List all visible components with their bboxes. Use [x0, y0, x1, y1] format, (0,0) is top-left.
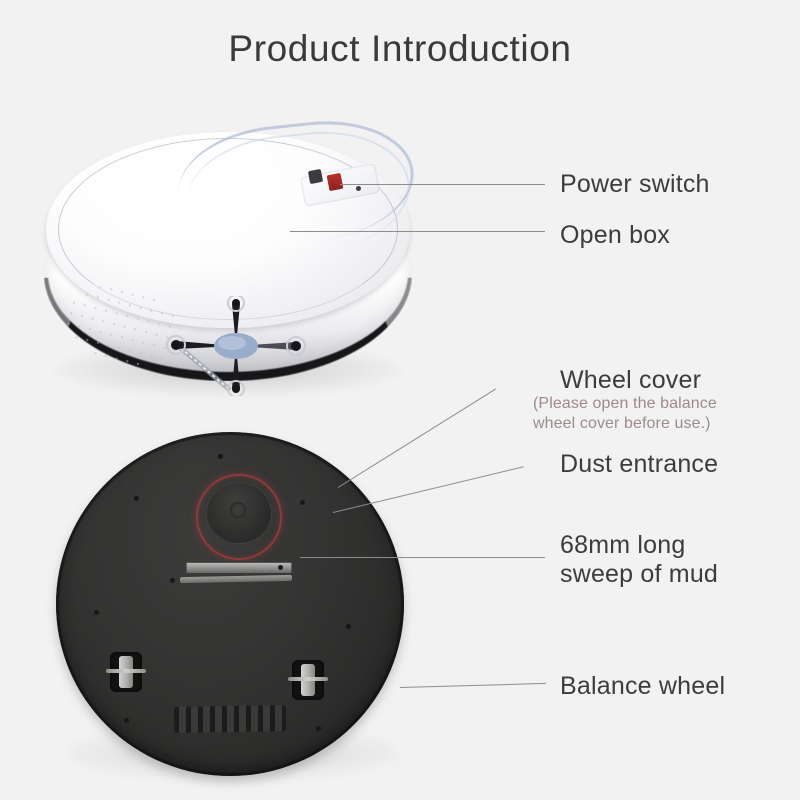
screw-dot — [134, 496, 139, 501]
screw-dot — [124, 718, 129, 723]
screw-dot — [316, 726, 321, 731]
callout-open-box: Open box — [560, 221, 670, 250]
brush-ribs — [174, 705, 286, 733]
compass-graphic — [148, 296, 324, 396]
callout-power-switch: Power switch — [560, 170, 710, 199]
screw-dot — [346, 624, 351, 629]
callout-wheel-cover: Wheel cover — [560, 366, 701, 395]
callout-dust-entrance: Dust entrance — [560, 450, 718, 479]
screw-dot — [170, 578, 175, 583]
balance-wheel-left — [110, 652, 142, 692]
callout-sweep-of-mud-line1: 68mm long — [560, 531, 685, 560]
callout-sweep-of-mud-line2: sweep of mud — [560, 560, 718, 589]
dust-entrance-screw — [278, 565, 283, 570]
robot-vacuum-top-view — [28, 118, 428, 403]
mode-button — [308, 169, 323, 184]
callout-wheel-cover-note-line2: wheel cover before use.) — [533, 414, 711, 434]
leader-line-balance-wheel — [400, 683, 546, 688]
product-introduction-infographic: Product Introduction — [0, 0, 800, 800]
wheel-cover-highlight-ring — [196, 474, 282, 560]
power-switch-rocker — [327, 173, 344, 191]
screw-dot — [94, 610, 99, 615]
balance-wheel-right — [292, 660, 324, 700]
callout-balance-wheel: Balance wheel — [560, 672, 725, 701]
robot-vacuum-bottom-view — [48, 426, 418, 784]
dust-entrance-bar — [186, 562, 292, 573]
leader-line-sweep-of-mud — [300, 557, 545, 558]
callout-wheel-cover-note-line1: (Please open the balance — [533, 394, 717, 414]
screw-dot — [300, 500, 305, 505]
leader-line-open-box — [290, 231, 545, 232]
page-title: Product Introduction — [0, 28, 800, 70]
leader-line-power-switch — [340, 184, 545, 185]
screw-dot — [218, 454, 223, 459]
status-led — [356, 186, 361, 191]
